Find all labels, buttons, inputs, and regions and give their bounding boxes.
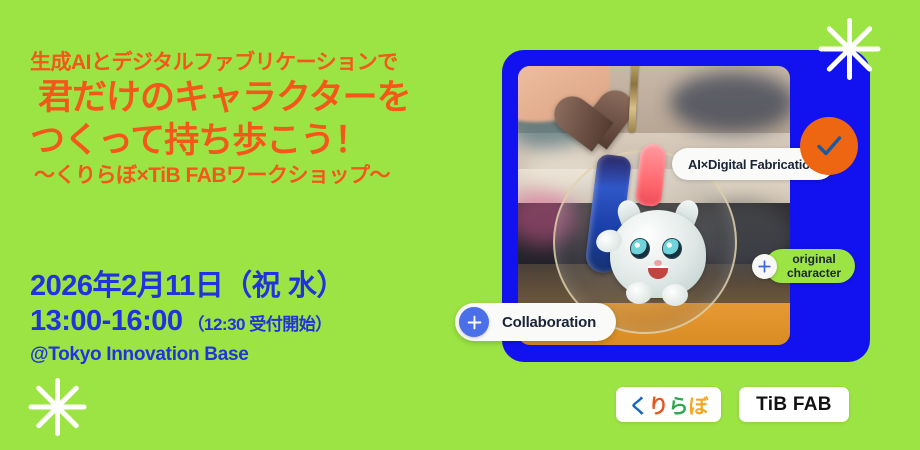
event-time-row: 13:00-16:00 （12:30 受付開始）	[30, 304, 345, 342]
chip-collaboration[interactable]: Collaboration	[455, 303, 616, 341]
logo-tib-fab: TiB FAB	[739, 387, 849, 422]
cat-eye-left	[630, 238, 650, 259]
chip-collaboration-wrap: Collaboration	[455, 303, 616, 341]
chip-original-label-line1: original	[792, 252, 835, 266]
heart-charm	[535, 66, 614, 139]
headline-line-1: 生成AIとデジタルファブリケーションで	[30, 50, 496, 76]
poster-canvas: 生成AIとデジタルファブリケーションで 君だけのキャラクターを つくって持ち歩こ…	[0, 0, 920, 450]
plus-icon	[752, 254, 777, 279]
logo-kurilabo-char-1: く	[629, 396, 649, 418]
headline-line-3: つくって持ち歩こう！	[30, 119, 496, 162]
cat-eye-right	[662, 238, 682, 259]
logo-tib-fab-text: TiB FAB	[756, 394, 832, 416]
chip-original-character[interactable]: original character	[752, 249, 855, 283]
chip-original-label: original character	[765, 249, 855, 283]
headline-line-2: 君だけのキャラクターを	[38, 76, 496, 119]
event-date: 2026年2月11日（祝 水）	[30, 268, 345, 304]
logo-kurilabo-char-3: ら	[669, 396, 689, 418]
check-icon	[812, 129, 846, 163]
logo-kurilabo-char-2: り	[649, 396, 669, 418]
photo-bokeh-blob	[670, 72, 790, 133]
cat-character	[600, 186, 718, 304]
event-venue: @Tokyo Innovation Base	[30, 342, 345, 368]
sparkle-icon-top-right	[818, 18, 880, 80]
logo-row: くりらぼ TiB FAB	[616, 387, 849, 422]
logo-kurilabo-text: くりらぼ	[629, 390, 709, 419]
event-details-block: 2026年2月11日（祝 水） 13:00-16:00 （12:30 受付開始）…	[30, 268, 345, 368]
logo-kurilabo-char-4: ぼ	[689, 396, 709, 418]
chip-collaboration-label: Collaboration	[502, 314, 596, 331]
plus-glyph	[757, 259, 772, 274]
logo-kurilabo: くりらぼ	[616, 387, 721, 422]
check-badge	[800, 117, 858, 175]
sparkle-icon-bottom-left	[28, 378, 86, 436]
chip-original-label-line2: character	[787, 266, 841, 280]
event-time: 13:00-16:00	[30, 304, 183, 338]
plus-glyph	[466, 314, 483, 331]
plus-icon	[459, 307, 489, 337]
headline-subtitle: 〜くりらぼ×TiB FABワークショップ〜	[34, 162, 496, 190]
headline-block: 生成AIとデジタルファブリケーションで 君だけのキャラクターを つくって持ち歩こ…	[26, 50, 496, 190]
cat-paw	[662, 284, 688, 306]
cat-body	[610, 210, 706, 298]
cat-paw	[626, 282, 652, 304]
event-time-note: （12:30 受付開始）	[188, 308, 332, 342]
